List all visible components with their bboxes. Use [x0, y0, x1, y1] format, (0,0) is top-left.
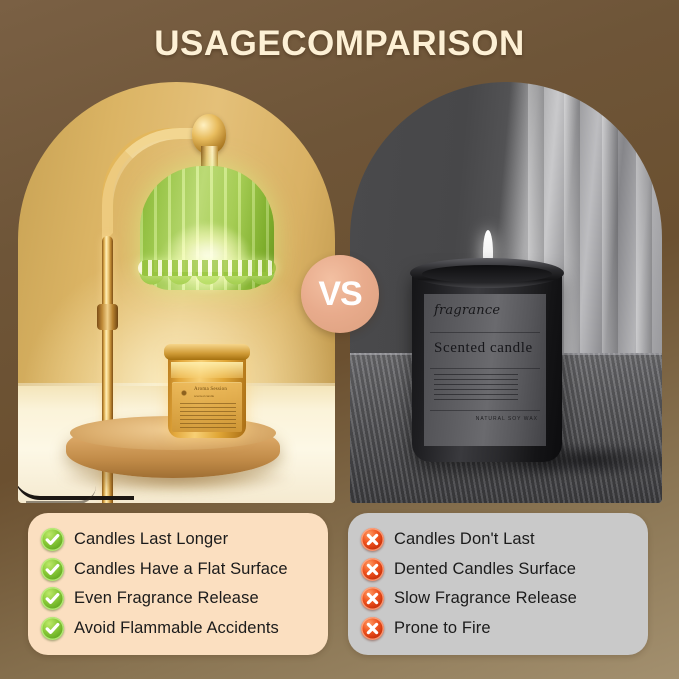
pros-card: Candles Last Longer Candles Have a Flat … [28, 513, 328, 655]
black-candle-label: fragrance Scented candle NATURAL SOY WAX [424, 294, 546, 446]
list-item: Slow Fragrance Release [348, 587, 648, 610]
pros-item-label: Candles Last Longer [74, 530, 228, 549]
jar-label-text-lines [180, 403, 236, 429]
product-image-candle-warmer: Aroma Session scented candle [18, 82, 335, 503]
versus-badge: VS [301, 255, 379, 333]
product-image-scented-candle: fragrance Scented candle NATURAL SOY WAX [350, 82, 662, 503]
list-item: Avoid Flammable Accidents [28, 617, 328, 640]
pros-item-label: Avoid Flammable Accidents [74, 619, 279, 638]
x-circle-icon [361, 528, 384, 551]
check-circle-icon [41, 617, 64, 640]
shade-scalloped-edge [138, 272, 276, 306]
check-circle-icon [41, 558, 64, 581]
lamp-collar [97, 304, 118, 330]
power-cord-shadow [26, 486, 96, 503]
pros-item-label: Candles Have a Flat Surface [74, 560, 288, 579]
cons-item-label: Prone to Fire [394, 619, 491, 638]
x-circle-icon [361, 587, 384, 610]
cons-item-label: Candles Don't Last [394, 530, 535, 549]
black-candle-wax-surface [422, 265, 552, 283]
amber-candle-jar-label: Aroma Session scented candle [172, 382, 242, 432]
amber-candle-wax [171, 362, 243, 378]
x-circle-icon [361, 558, 384, 581]
cons-card: Candles Don't Last Dented Candles Surfac… [348, 513, 648, 655]
list-item: Dented Candles Surface [348, 558, 648, 581]
label-footer-soy-wax: NATURAL SOY WAX [476, 416, 538, 422]
jar-label-emblem-icon [179, 387, 189, 399]
list-item: Candles Don't Last [348, 528, 648, 551]
jar-label-brand: Aroma Session [194, 387, 227, 392]
cons-item-label: Dented Candles Surface [394, 560, 576, 579]
list-item: Candles Last Longer [28, 528, 328, 551]
label-script-fragrance: fragrance [434, 303, 500, 318]
label-title-scented-candle: Scented candle [434, 340, 533, 357]
x-circle-icon [361, 617, 384, 640]
label-body-text-lines [434, 374, 518, 404]
list-item: Even Fragrance Release [28, 587, 328, 610]
pros-item-label: Even Fragrance Release [74, 589, 259, 608]
amber-candle-jar-rim [164, 344, 250, 360]
label-divider [430, 368, 540, 369]
jar-label-subtitle: scented candle [194, 394, 214, 398]
check-circle-icon [41, 587, 64, 610]
label-divider [430, 332, 540, 333]
list-item: Prone to Fire [348, 617, 648, 640]
cons-item-label: Slow Fragrance Release [394, 589, 577, 608]
shade-bead-band [138, 260, 276, 276]
page-title: USAGECOMPARISON [0, 24, 679, 64]
list-item: Candles Have a Flat Surface [28, 558, 328, 581]
label-divider [430, 410, 540, 411]
check-circle-icon [41, 528, 64, 551]
